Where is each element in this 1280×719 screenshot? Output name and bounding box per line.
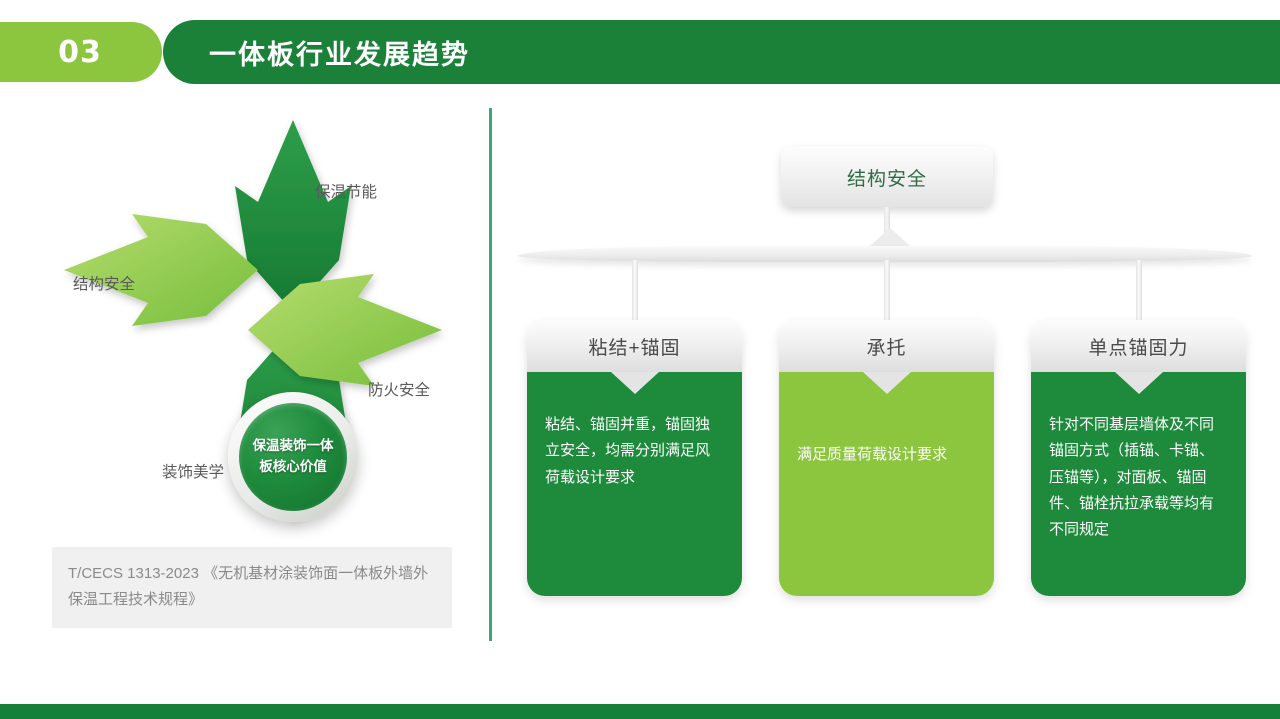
card-notch-icon-3 [1115, 372, 1163, 394]
card-bonding-anchoring[interactable]: 粘结+锚固 粘结、锚固并重，锚固独立安全，均需分别满足风荷载设计要求 [527, 320, 742, 596]
diagram-label-top: 保温节能 [315, 180, 377, 202]
top-node-structural-safety[interactable]: 结构安全 [781, 147, 993, 207]
card-stem-3 [1136, 260, 1142, 320]
card-support[interactable]: 承托 满足质量荷载设计要求 [779, 320, 994, 596]
standard-reference-text: T/CECS 1313-2023 《无机基材涂装饰面一体板外墙外保温工程技术规程… [68, 565, 428, 608]
diagram-label-bottom: 装饰美学 [162, 460, 224, 482]
card-notch-icon-2 [863, 372, 911, 394]
diagram-label-right: 防火安全 [368, 378, 430, 400]
section-number-badge: 03 [0, 22, 162, 82]
card-single-point-anchor[interactable]: 单点锚固力 针对不同基层墙体及不同锚固方式（插锚、卡锚、压锚等），对面板、锚固件… [1031, 320, 1246, 596]
standard-reference-caption: T/CECS 1313-2023 《无机基材涂装饰面一体板外墙外保温工程技术规程… [52, 547, 452, 628]
card-stem-2 [884, 260, 890, 320]
core-circle-ring: 保温装饰一体 板核心价值 [228, 392, 358, 522]
core-label-line2: 板核心价值 [259, 457, 327, 478]
core-label-line1: 保温装饰一体 [253, 436, 334, 457]
card-header-2: 承托 [779, 320, 994, 372]
card-body-2: 满足质量荷载设计要求 [779, 372, 994, 596]
card-title-2: 承托 [866, 333, 906, 360]
core-circle: 保温装饰一体 板核心价值 [239, 403, 347, 511]
footer-bar [0, 704, 1280, 719]
right-panel: 结构安全 粘结+锚固 粘结、锚固并重，锚固独立安全，均需分别满足风荷载设计要求 … [500, 110, 1270, 640]
card-text-1: 粘结、锚固并重，锚固独立安全，均需分别满足风荷载设计要求 [545, 412, 724, 491]
top-node-label: 结构安全 [847, 164, 927, 191]
card-notch-icon-1 [611, 372, 659, 394]
section-number: 03 [58, 35, 102, 70]
connector-arrow-icon [868, 228, 912, 248]
left-panel: 保温装饰一体 板核心价值 保温节能 结构安全 防火安全 装饰美学 T/CECS … [20, 110, 480, 640]
diagram-label-left: 结构安全 [73, 272, 135, 294]
card-text-2: 满足质量荷载设计要求 [797, 442, 976, 468]
card-header-3: 单点锚固力 [1031, 320, 1246, 372]
card-title-3: 单点锚固力 [1088, 333, 1188, 360]
core-value-arrow-diagram: 保温装饰一体 板核心价值 保温节能 结构安全 防火安全 装饰美学 [40, 120, 460, 530]
card-title-1: 粘结+锚固 [588, 333, 680, 360]
slide-root: 03 一体板行业发展趋势 [0, 0, 1280, 719]
card-text-3: 针对不同基层墙体及不同锚固方式（插锚、卡锚、压锚等），对面板、锚固件、锚栓抗拉承… [1049, 412, 1228, 543]
card-body-3: 针对不同基层墙体及不同锚固方式（插锚、卡锚、压锚等），对面板、锚固件、锚栓抗拉承… [1031, 372, 1246, 596]
card-stem-1 [632, 260, 638, 320]
page-title: 一体板行业发展趋势 [209, 33, 470, 72]
vertical-divider [489, 108, 492, 641]
card-header-1: 粘结+锚固 [527, 320, 742, 372]
arrow-left [64, 214, 258, 326]
section-title-bar: 一体板行业发展趋势 [163, 20, 1280, 84]
card-body-1: 粘结、锚固并重，锚固独立安全，均需分别满足风荷载设计要求 [527, 372, 742, 596]
